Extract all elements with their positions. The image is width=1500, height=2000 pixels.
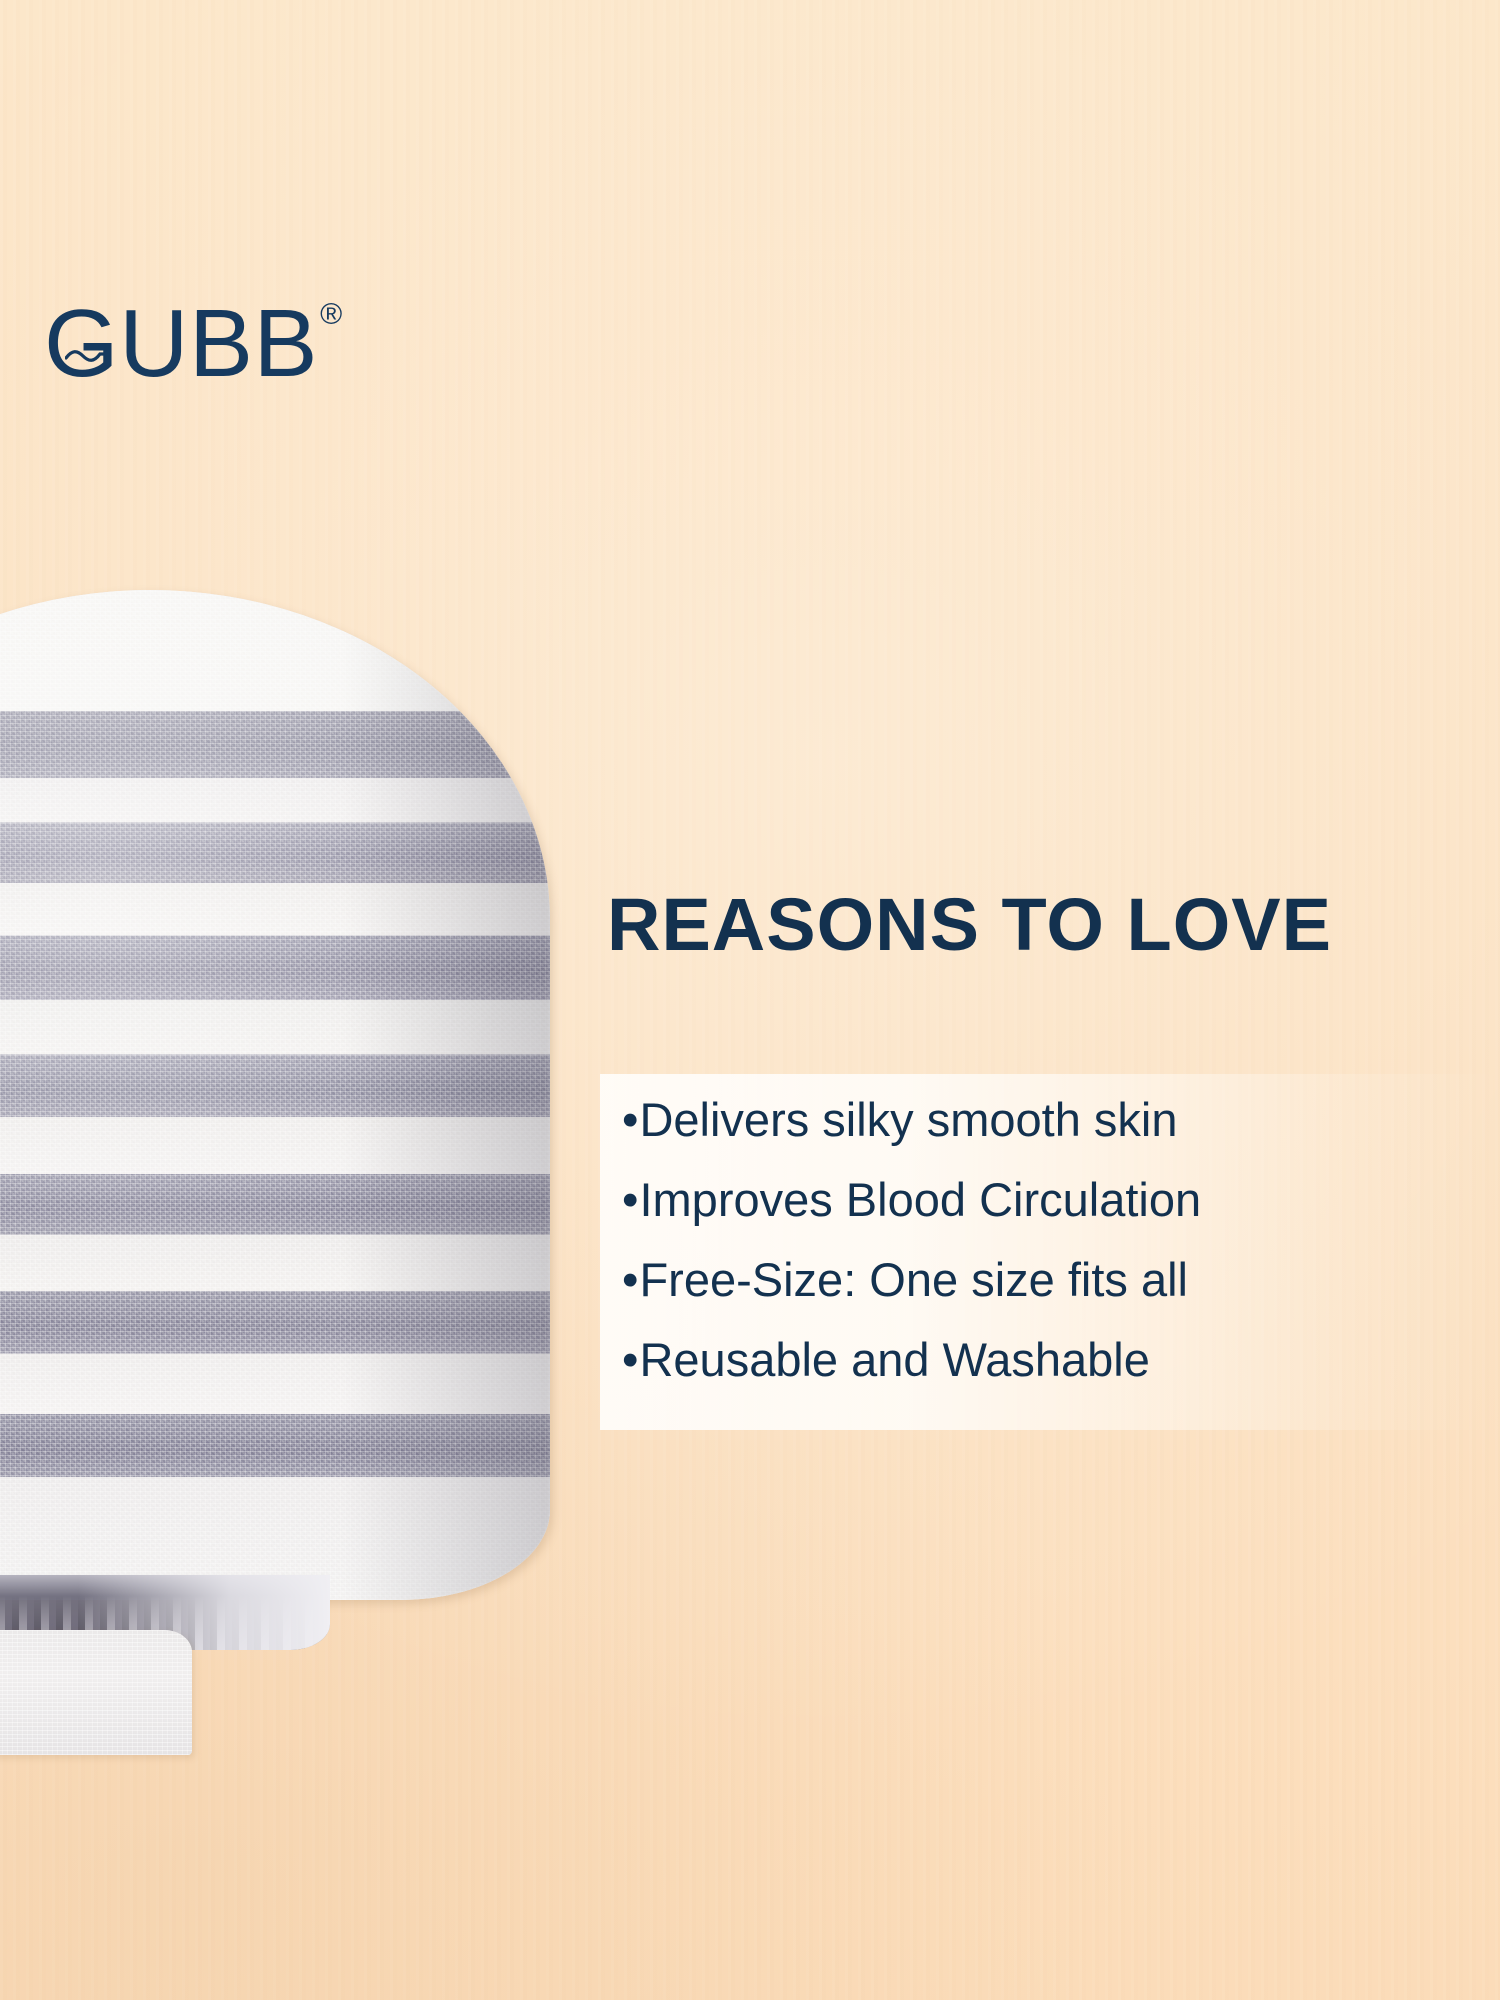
list-item-label: Delivers silky smooth skin [639,1096,1177,1143]
mitt-cuff-texture [0,1630,192,1755]
bullet-icon: • [622,1096,638,1143]
page-title: REASONS TO LOVE [607,888,1332,962]
list-item-label: Reusable and Washable [639,1336,1149,1383]
bullet-icon: • [622,1336,638,1383]
brand-logo: GUBB ® [44,296,342,392]
mitt-shading [0,590,550,1600]
list-item: • Delivers silky smooth skin [622,1096,1201,1176]
list-item-label: Free-Size: One size fits all [639,1256,1188,1303]
mitt-body [0,590,550,1600]
brand-logo-wordmark: GUBB [44,296,318,392]
list-item: • Improves Blood Circulation [622,1176,1201,1256]
product-feature-poster: GUBB ® REASONS TO LOVE • Delivers silky … [0,0,1500,2000]
exfoliating-mitt-illustration [0,590,550,1750]
product-image [0,590,550,1750]
bullet-icon: • [622,1256,638,1303]
benefits-list: • Delivers silky smooth skin • Improves … [622,1096,1201,1416]
list-item-label: Improves Blood Circulation [639,1176,1201,1223]
registered-trademark-icon: ® [320,300,342,330]
mitt-cuff [0,1630,192,1755]
list-item: • Reusable and Washable [622,1336,1201,1416]
list-item: • Free-Size: One size fits all [622,1256,1201,1336]
bullet-icon: • [622,1176,638,1223]
